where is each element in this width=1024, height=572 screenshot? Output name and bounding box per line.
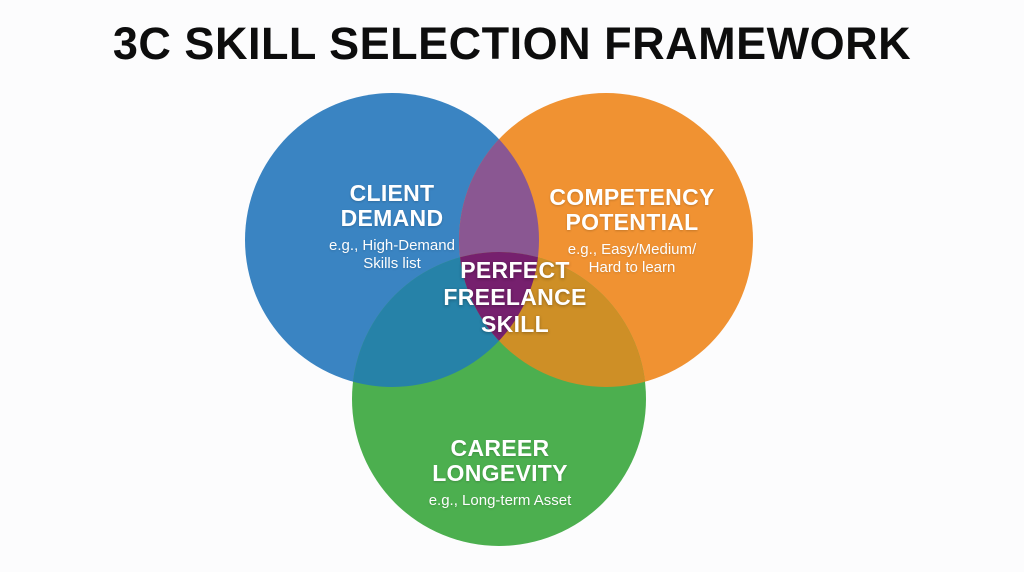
label-career-longevity-title-line2: LONGEVITY: [370, 461, 630, 486]
label-competency-potential-title-line2: POTENTIAL: [502, 210, 762, 235]
label-career-longevity-title-line1: CAREER: [370, 436, 630, 461]
label-client-demand-title-line1: CLIENT: [262, 181, 522, 206]
label-career-longevity: CAREER LONGEVITY e.g., Long-term Asset: [370, 436, 630, 510]
label-career-longevity-subtitle-line1: e.g., Long-term Asset: [370, 492, 630, 510]
label-client-demand-subtitle-line1: e.g., High-Demand: [262, 237, 522, 255]
label-competency-potential-subtitle-line1: e.g., Easy/Medium/: [502, 241, 762, 259]
label-perfect-freelance-skill: PERFECT FREELANCE SKILL: [420, 257, 610, 338]
label-center-line1: PERFECT: [420, 257, 610, 284]
label-center-line3: SKILL: [420, 311, 610, 338]
label-center-line2: FREELANCE: [420, 284, 610, 311]
label-competency-potential-title-line1: COMPETENCY: [502, 185, 762, 210]
framework-diagram-canvas: 3C SKILL SELECTION FRAMEWORK CLIENT: [0, 0, 1024, 572]
label-client-demand-title-line2: DEMAND: [262, 206, 522, 231]
